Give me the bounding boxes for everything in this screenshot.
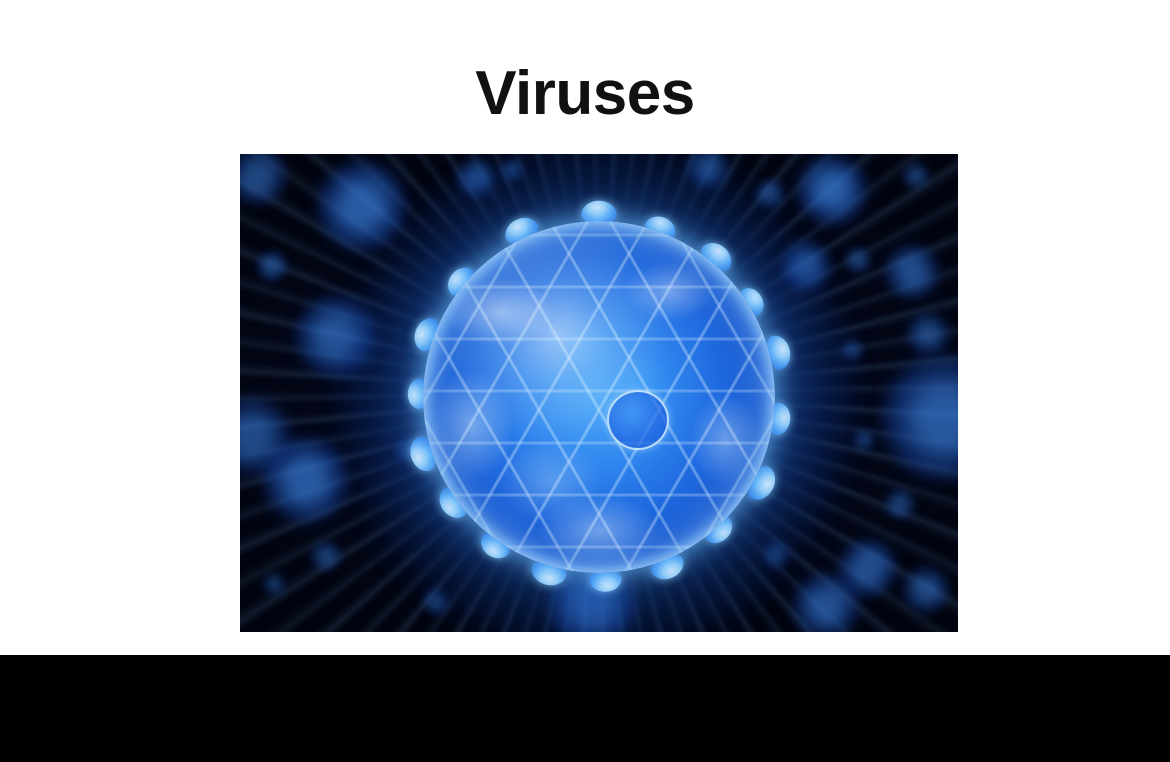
virus-photograph	[240, 154, 958, 632]
background-virion	[906, 312, 950, 356]
background-virion	[884, 488, 916, 520]
background-virion	[796, 154, 868, 226]
bottom-black-bar	[0, 655, 1170, 762]
presentation-slide: Viruses	[0, 0, 1170, 762]
background-virion	[902, 162, 930, 190]
background-virion	[852, 428, 876, 452]
background-virion	[256, 250, 288, 282]
background-virion	[844, 246, 872, 274]
background-virion	[262, 572, 286, 596]
background-virion	[902, 566, 950, 614]
virus-capsid	[423, 221, 775, 573]
capsid-rim	[423, 221, 775, 573]
background-virion	[884, 244, 940, 300]
capsid-pore	[607, 390, 669, 450]
virus-particle	[423, 221, 775, 573]
page-title: Viruses	[0, 58, 1170, 130]
background-virion	[310, 540, 342, 572]
background-virion	[792, 572, 860, 632]
